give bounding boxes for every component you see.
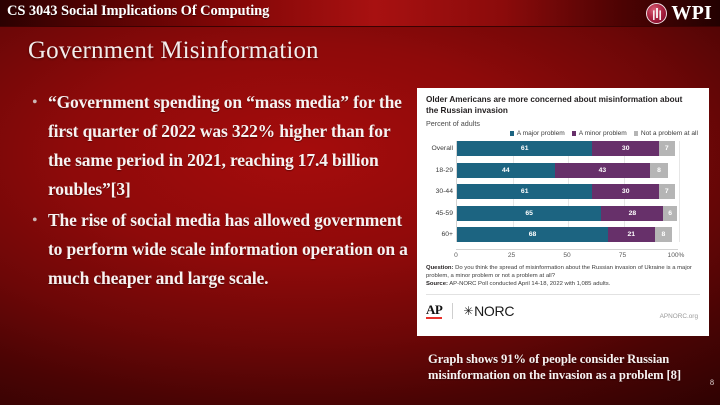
chart-bar-row: Overall61307	[457, 141, 679, 156]
chart-card: Older Americans are more concerned about…	[417, 88, 709, 336]
bullet-marker-icon: •	[26, 206, 48, 235]
ap-logo: AP	[426, 303, 442, 319]
chart-x-tick-label: 50	[563, 252, 570, 259]
chart-bar-segment: 8	[655, 227, 673, 242]
chart-legend: A major problemA minor problemNot a prob…	[426, 130, 698, 137]
page-title: Government Misinformation	[28, 37, 319, 65]
legend-label: A major problem	[517, 130, 565, 137]
chart-gridline	[679, 141, 680, 242]
legend-swatch-icon	[572, 131, 577, 136]
chart-x-tick-label: 100%	[668, 252, 685, 259]
slide-number: 8	[710, 378, 714, 387]
chart-category-label: Overall	[425, 141, 453, 156]
chart-bar-segment: 65	[457, 206, 601, 221]
legend-swatch-icon	[510, 131, 515, 136]
chart-question-label: Question:	[426, 265, 454, 271]
chart-plot-area: Overall6130718-294443830-446130745-59652…	[456, 141, 679, 242]
asterisk-icon: ✳	[463, 305, 473, 317]
chart-bar-row: 30-4461307	[457, 184, 679, 199]
list-item: • The rise of social media has allowed g…	[26, 206, 416, 293]
chart-footer: AP ✳NORC APNORC.org	[426, 294, 700, 322]
chart-notes: Question: Do you think the spread of mis…	[426, 264, 700, 288]
chart-bar-row: 60+68218	[457, 227, 679, 242]
apnorc-url: APNORC.org	[660, 313, 698, 320]
chart-x-tick-label: 75	[619, 252, 626, 259]
chart-x-axis: 0255075100%	[456, 249, 678, 261]
chart-question-note: Question: Do you think the spread of mis…	[426, 264, 700, 280]
chart-title: Older Americans are more concerned about…	[426, 95, 691, 116]
presentation-slide: CS 3043 Social Implications Of Computing…	[0, 0, 720, 405]
chart-source-note: Source: AP-NORC Poll conducted April 14-…	[426, 280, 700, 288]
wpi-logo: WPI	[646, 1, 712, 25]
chart-bar-segment: 43	[555, 163, 650, 178]
legend-swatch-icon	[634, 131, 639, 136]
legend-label: Not a problem at all	[641, 130, 698, 137]
chart-bar-segment: 30	[592, 184, 659, 199]
legend-item: A minor problem	[572, 130, 627, 137]
wpi-wordmark: WPI	[671, 3, 712, 23]
chart-subtitle: Percent of adults	[426, 119, 700, 128]
chart-bar-segment: 28	[601, 206, 663, 221]
legend-item: Not a problem at all	[634, 130, 698, 137]
legend-label: A minor problem	[579, 130, 627, 137]
chart-bar-segment: 6	[663, 206, 676, 221]
bullet-text: The rise of social media has allowed gov…	[48, 206, 416, 293]
norc-logo: ✳NORC	[463, 303, 514, 319]
chart-bar-segment: 7	[659, 141, 675, 156]
chart-bar-row: 18-2944438	[457, 163, 679, 178]
chart-caption: Graph shows 91% of people consider Russi…	[428, 352, 690, 383]
chart-bar-row: 45-5965286	[457, 206, 679, 221]
chart-category-label: 18-29	[425, 163, 453, 178]
slide-header-bar: CS 3043 Social Implications Of Computing…	[0, 0, 720, 27]
chart-x-tick-label: 0	[454, 252, 458, 259]
wpi-seal-icon	[646, 3, 667, 24]
footer-divider	[452, 303, 453, 319]
chart-bar-segment: 68	[457, 227, 608, 242]
chart-source-text: AP-NORC Poll conducted April 14-18, 2022…	[448, 281, 610, 287]
chart-bar-segment: 7	[659, 184, 675, 199]
chart-bar-segment: 61	[457, 184, 592, 199]
chart-bar-segment: 30	[592, 141, 659, 156]
legend-item: A major problem	[510, 130, 565, 137]
list-item: • “Government spending on “mass media” f…	[26, 88, 416, 204]
chart-source-label: Source:	[426, 281, 448, 287]
course-title: CS 3043 Social Implications Of Computing	[7, 3, 269, 20]
chart-bar-segment: 21	[608, 227, 655, 242]
chart-question-text: Do you think the spread of misinformatio…	[426, 265, 692, 279]
chart-bar-segment: 8	[650, 163, 668, 178]
chart-x-tick-label: 25	[508, 252, 515, 259]
bullet-marker-icon: •	[26, 88, 48, 117]
chart-category-label: 45-59	[425, 206, 453, 221]
chart-category-label: 30-44	[425, 184, 453, 199]
chart-bar-segment: 61	[457, 141, 592, 156]
bullet-text: “Government spending on “mass media” for…	[48, 88, 416, 204]
bullet-list: • “Government spending on “mass media” f…	[26, 88, 416, 295]
chart-category-label: 60+	[425, 227, 453, 242]
chart-bar-segment: 44	[457, 163, 555, 178]
norc-wordmark: NORC	[474, 303, 514, 319]
